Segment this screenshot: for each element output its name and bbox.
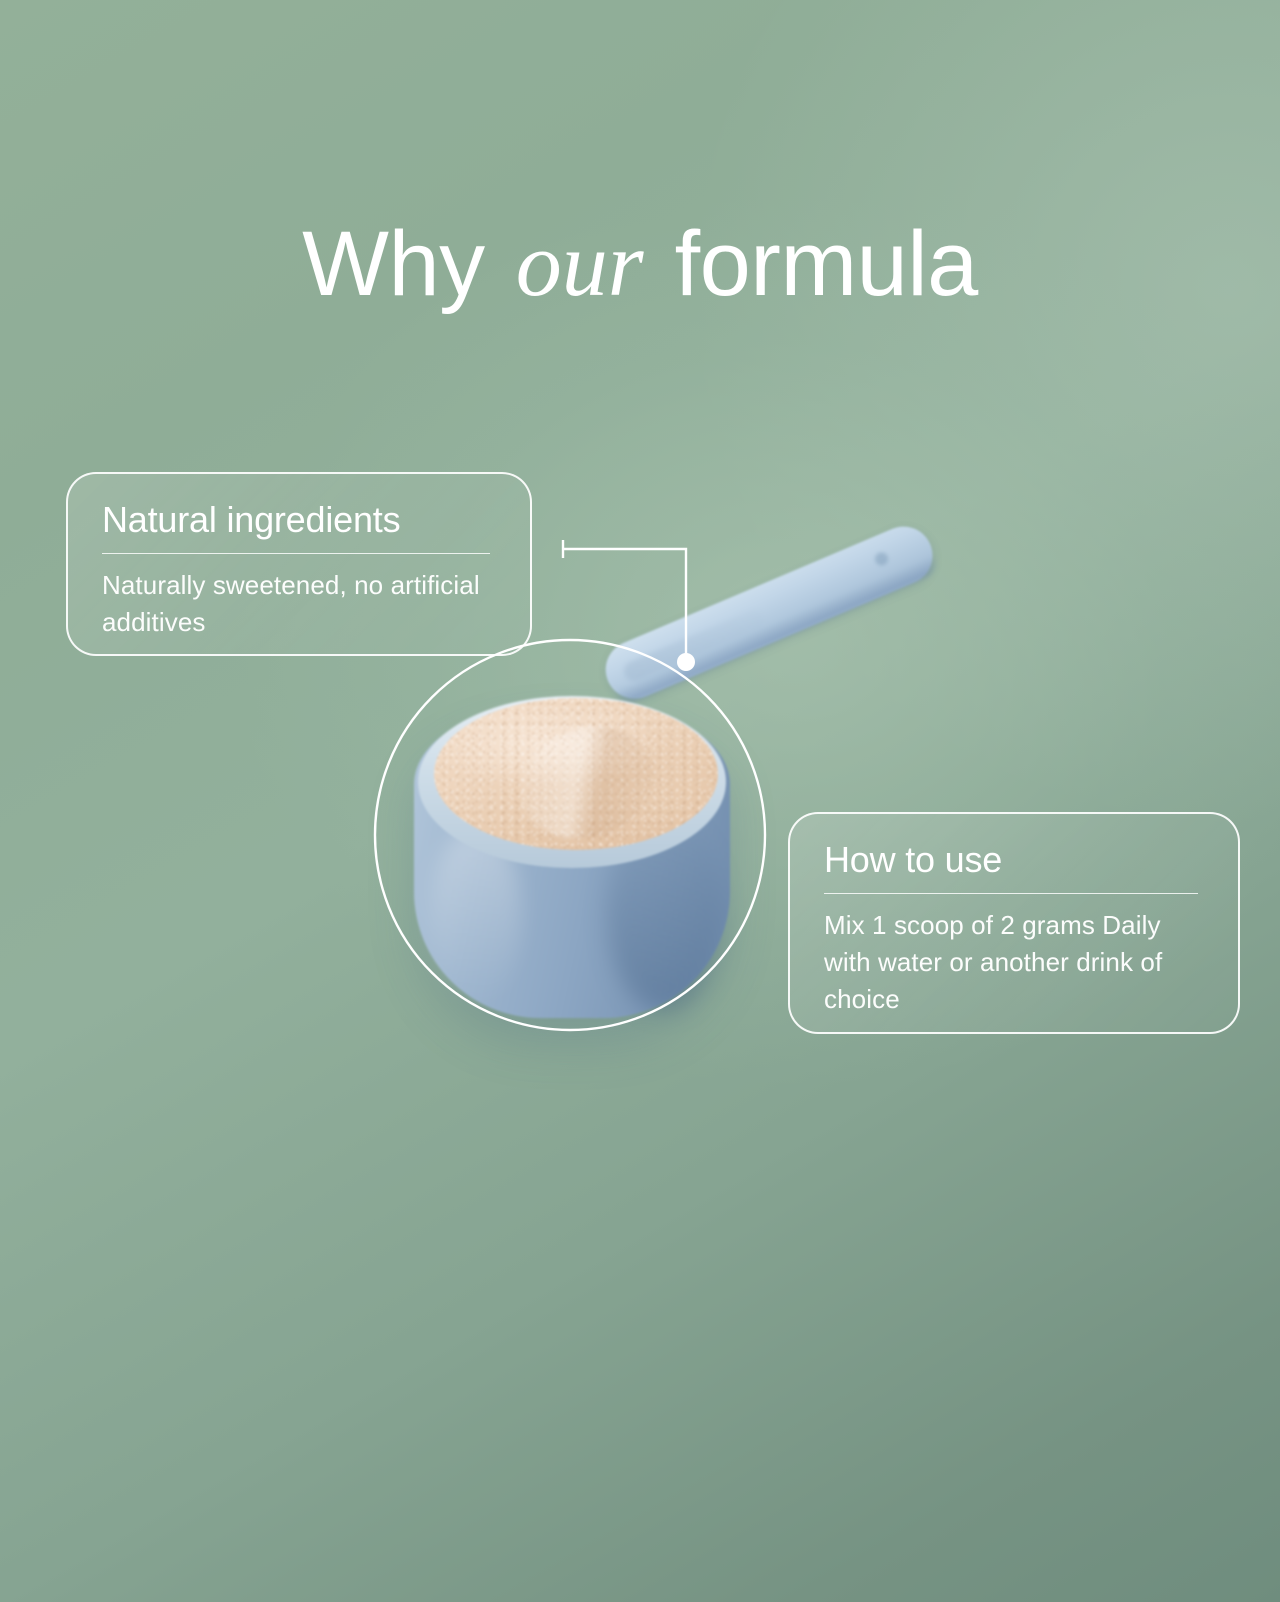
page-title: Why our formula — [0, 216, 1280, 313]
scoop-handle-emboss — [621, 607, 767, 684]
scoop-cup-rim — [418, 696, 726, 868]
card-heading: How to use — [824, 840, 1204, 880]
powder-ridge — [506, 710, 669, 856]
scoop-cup-highlight — [430, 826, 522, 1008]
scoop-handle-shadow — [612, 554, 941, 707]
powder-fill — [434, 698, 718, 850]
info-card-natural-ingredients[interactable]: Natural ingredients Naturally sweetened,… — [66, 472, 532, 656]
scoop-handle-hole — [873, 550, 890, 567]
card-heading: Natural ingredients — [102, 500, 496, 540]
powder-grain-texture — [434, 698, 718, 850]
highlight-circle-icon — [375, 640, 765, 1030]
connector-dot-icon — [677, 653, 695, 671]
scoop-cup — [414, 702, 730, 1018]
title-part-2: formula — [675, 213, 978, 315]
title-emphasis: our — [510, 213, 650, 315]
card-divider — [824, 893, 1198, 894]
info-card-how-to-use[interactable]: How to use Mix 1 scoop of 2 grams Daily … — [788, 812, 1240, 1034]
card-divider — [102, 553, 490, 554]
card-body: Mix 1 scoop of 2 grams Daily with water … — [824, 907, 1204, 1018]
title-part-1: Why — [302, 213, 485, 315]
poster-canvas: Why our formula — [0, 0, 1280, 1602]
scoop-handle — [597, 518, 942, 708]
connector-line-left-icon — [563, 549, 686, 662]
card-body: Naturally sweetened, no artificial addit… — [102, 567, 496, 641]
scoop-cup-shadow — [606, 812, 724, 1012]
